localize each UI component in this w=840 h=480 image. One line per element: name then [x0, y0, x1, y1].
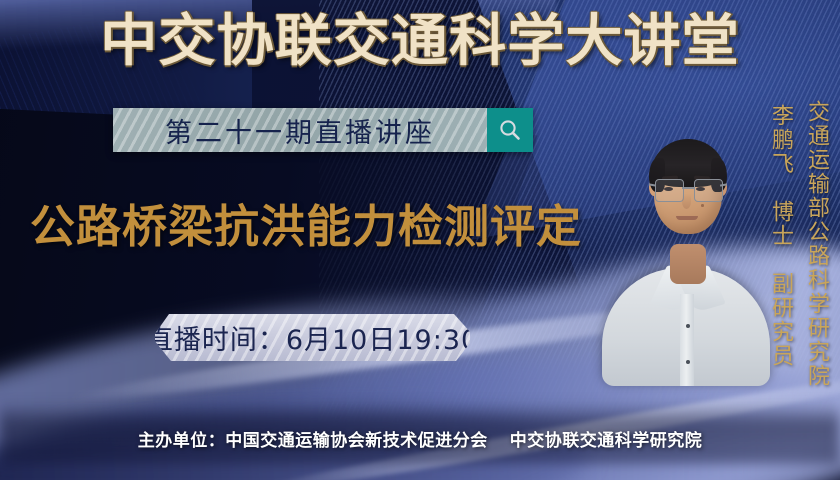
search-icon-tile[interactable]: [487, 108, 533, 152]
speaker-mole: [701, 204, 704, 207]
speaker-organization: 交通运输部公路科学研究院: [800, 100, 832, 388]
episode-banner-label: 第二十一期直播讲座: [165, 111, 435, 150]
speaker-mouth: [676, 216, 698, 220]
broadcast-time-badge: 直播时间：6月10日19:30: [155, 314, 470, 361]
footer-org-2: 中交协联交通科学研究院: [510, 431, 703, 451]
footer-organizers: 主办单位：中国交通运输协会新技术促进分会中交协联交通科学研究院: [0, 426, 840, 451]
speaker-shirt-button: [686, 324, 690, 328]
glasses-lens-right: [694, 179, 723, 202]
glasses-bridge: [682, 187, 694, 189]
lecture-headline: 公路桥梁抗洪能力检测评定: [30, 204, 582, 249]
poster-main-title: 中交协联交通科学大讲堂: [0, 14, 840, 70]
speaker-portrait: [610, 118, 760, 368]
search-icon: [497, 117, 523, 143]
episode-banner: 第二十一期直播讲座: [113, 108, 533, 152]
speaker-shirt-button: [686, 360, 690, 364]
poster-canvas: 中交协联交通科学大讲堂 第二十一期直播讲座 公路桥梁抗洪能力检测评定 直播时间：…: [0, 0, 840, 480]
episode-banner-body: 第二十一期直播讲座: [113, 108, 487, 152]
speaker-name-and-title: 李鹏飞 博士 副研究员: [764, 104, 796, 368]
speaker-nose: [682, 194, 691, 209]
glasses-lens-left: [655, 179, 684, 202]
speaker-neck: [670, 244, 706, 284]
speaker-shirt-placket: [680, 294, 694, 386]
footer-label: 主办单位：: [138, 431, 226, 451]
footer-org-1: 中国交通运输协会新技术促进分会: [225, 431, 488, 451]
broadcast-time-label: 直播时间：6月10日19:30: [155, 318, 470, 357]
